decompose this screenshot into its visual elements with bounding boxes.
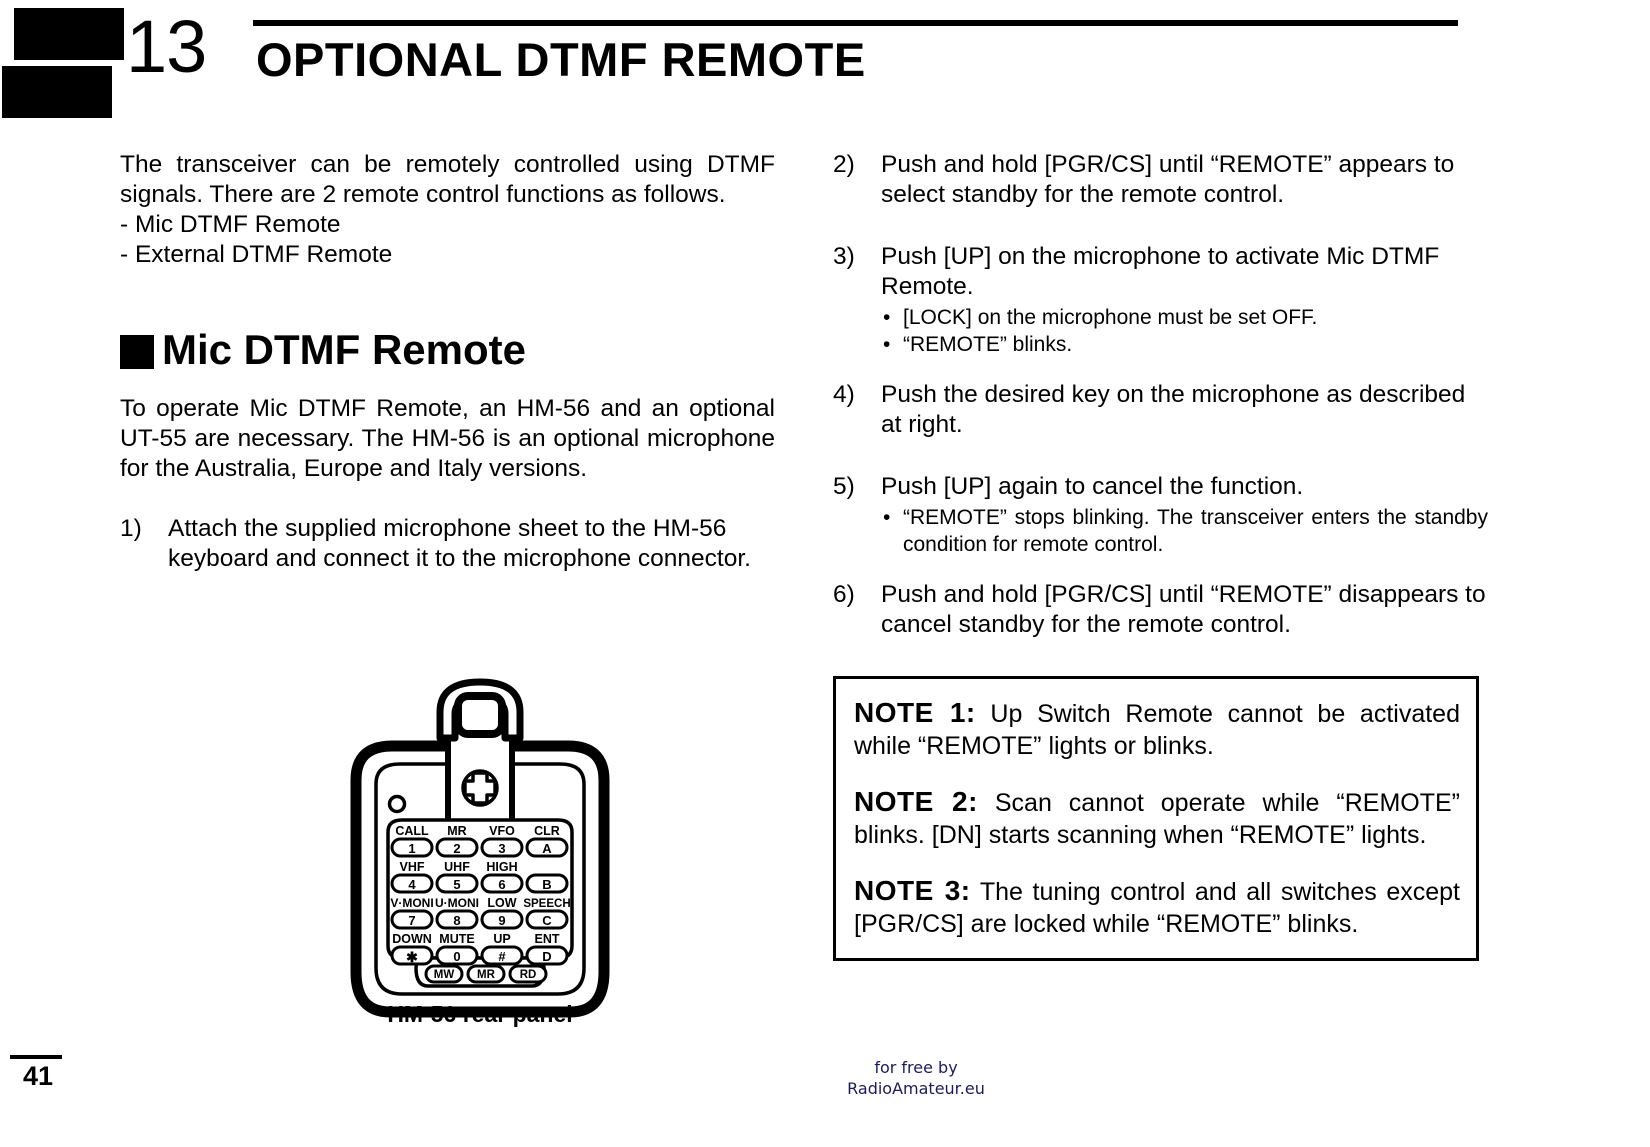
right-steps-list: 2) Push and hold [PGR/CS] until “REMOTE”… (833, 150, 1488, 640)
key-text-9: 9 (498, 913, 505, 928)
figure-caption: HM-56 rear panel (330, 1000, 630, 1028)
key-text-6: 6 (498, 877, 505, 892)
key-label-u-moni: U·MONI (435, 896, 479, 910)
step-text: Push [UP] on the microphone to activate … (881, 243, 1439, 300)
list-item: • “REMOTE” stops blinking. The transceiv… (881, 504, 1488, 558)
note-label: NOTE 2: (854, 786, 978, 817)
key-label-up: UP (493, 932, 510, 946)
step-number: 6) (833, 580, 855, 610)
list-item: • “REMOTE” blinks. (881, 331, 1488, 358)
key-label-v-moni: V·MONI (390, 896, 433, 910)
page-number: 41 (10, 1061, 66, 1091)
list-item: 5) Push [UP] again to cancel the functio… (833, 472, 1488, 558)
left-column: The transceiver can be remotely controll… (120, 150, 775, 598)
key-label-down: DOWN (392, 932, 432, 946)
key-label-high: HIGH (486, 860, 517, 874)
note-label: NOTE 1: (854, 697, 976, 728)
list-item: • [LOCK] on the microphone must be set O… (881, 304, 1488, 331)
led-hole-icon (390, 797, 405, 812)
intro-item-external-dtmf: - External DTMF Remote (120, 240, 775, 270)
microphone-diagram-icon: CALL MR VFO CLR 1 2 3 A VHF UHF HIGH (330, 672, 630, 1032)
key-label-mute: MUTE (439, 932, 474, 946)
page-footer: 41 (10, 1055, 66, 1091)
watermark-line-2: RadioAmateur.eu (741, 1078, 1091, 1099)
key-label-vhf: VHF (400, 860, 425, 874)
key-text-4: 4 (408, 877, 416, 892)
key-label-speech: SPEECH (523, 898, 570, 910)
step-number: 2) (833, 150, 855, 180)
chapter-number: 13 (126, 10, 206, 84)
key-text-c: C (542, 913, 552, 928)
step-text: Push and hold [PGR/CS] until “REMOTE” ap… (881, 151, 1454, 208)
key-label-uhf: UHF (444, 860, 470, 874)
bullet-dot-icon: • (883, 504, 890, 531)
section-paragraph: To operate Mic DTMF Remote, an HM-56 and… (120, 394, 775, 484)
bullet-text: “REMOTE” stops blinking. The transceiver… (903, 506, 1488, 556)
right-column: 2) Push and hold [PGR/CS] until “REMOTE”… (833, 150, 1488, 664)
key-text-hash: # (498, 949, 506, 964)
step-text: Push and hold [PGR/CS] until “REMOTE” di… (881, 581, 1486, 638)
step-number: 4) (833, 380, 855, 410)
key-text-star: ✱ (406, 949, 418, 965)
header-block-top-icon (14, 8, 124, 60)
list-item: 3) Push [UP] on the microphone to activa… (833, 242, 1488, 358)
key-label-low: LOW (487, 896, 516, 910)
key-text-3: 3 (498, 841, 505, 856)
step-text: Push the desired key on the microphone a… (881, 381, 1465, 438)
watermark: for free by RadioAmateur.eu (741, 1057, 1091, 1099)
bullet-text: [LOCK] on the microphone must be set OFF… (903, 306, 1317, 329)
step-number: 5) (833, 472, 855, 502)
intro-item-mic-dtmf: - Mic DTMF Remote (120, 210, 775, 240)
list-item: 1) Attach the supplied microphone sheet … (120, 514, 775, 574)
key-text-5: 5 (453, 877, 460, 892)
list-item: 4) Push the desired key on the microphon… (833, 380, 1488, 440)
header-rule (253, 20, 1458, 26)
button-text-mw: MW (434, 969, 455, 981)
key-text-7: 7 (408, 913, 415, 928)
step-bullets: • “REMOTE” stops blinking. The transceiv… (881, 504, 1488, 558)
step-text: Attach the supplied microphone sheet to … (168, 515, 751, 572)
section-heading: Mic DTMF Remote (120, 328, 775, 380)
list-item: 6) Push and hold [PGR/CS] until “REMOTE”… (833, 580, 1488, 640)
note-3: NOTE 3: The tuning control and all switc… (854, 875, 1460, 940)
key-label-ent: ENT (535, 932, 560, 946)
screw-icon (463, 771, 497, 805)
key-label-clr: CLR (534, 824, 560, 838)
left-steps-list: 1) Attach the supplied microphone sheet … (120, 514, 775, 574)
note-1: NOTE 1: Up Switch Remote cannot be activ… (854, 697, 1460, 762)
section-heading-label: Mic DTMF Remote (162, 326, 526, 374)
key-label-call: CALL (395, 824, 429, 838)
key-text-2: 2 (453, 841, 460, 856)
note-box: NOTE 1: Up Switch Remote cannot be activ… (833, 676, 1479, 961)
header-block-bottom-icon (2, 66, 112, 118)
key-text-8: 8 (453, 913, 460, 928)
page-number-rule (10, 1055, 62, 1059)
hm56-rear-panel-figure: CALL MR VFO CLR 1 2 3 A VHF UHF HIGH (330, 672, 630, 1032)
button-text-mr: MR (477, 969, 496, 981)
key-label-mr: MR (447, 824, 466, 838)
key-text-1: 1 (408, 841, 415, 856)
note-2: NOTE 2: Scan cannot operate while “REMOT… (854, 786, 1460, 851)
step-number: 3) (833, 242, 855, 272)
list-item: 2) Push and hold [PGR/CS] until “REMOTE”… (833, 150, 1488, 210)
black-square-bullet-icon (120, 335, 154, 369)
key-text-a: A (542, 841, 552, 856)
bullet-text: “REMOTE” blinks. (903, 333, 1072, 356)
intro-paragraph: The transceiver can be remotely controll… (120, 150, 775, 210)
page-title: OPTIONAL DTMF REMOTE (256, 36, 866, 83)
key-text-0: 0 (453, 949, 460, 964)
bullet-dot-icon: • (883, 304, 890, 331)
step-bullets: • [LOCK] on the microphone must be set O… (881, 304, 1488, 358)
key-text-b: B (542, 877, 551, 892)
page-header: 13 OPTIONAL DTMF REMOTE (0, 0, 1650, 108)
step-text: Push [UP] again to cancel the function. (881, 473, 1303, 500)
note-label: NOTE 3: (854, 875, 971, 906)
button-text-rd: RD (520, 969, 537, 981)
step-number: 1) (120, 514, 142, 544)
watermark-line-1: for free by (741, 1057, 1091, 1078)
key-label-vfo: VFO (489, 824, 515, 838)
key-text-d: D (542, 949, 551, 964)
bullet-dot-icon: • (883, 331, 890, 358)
